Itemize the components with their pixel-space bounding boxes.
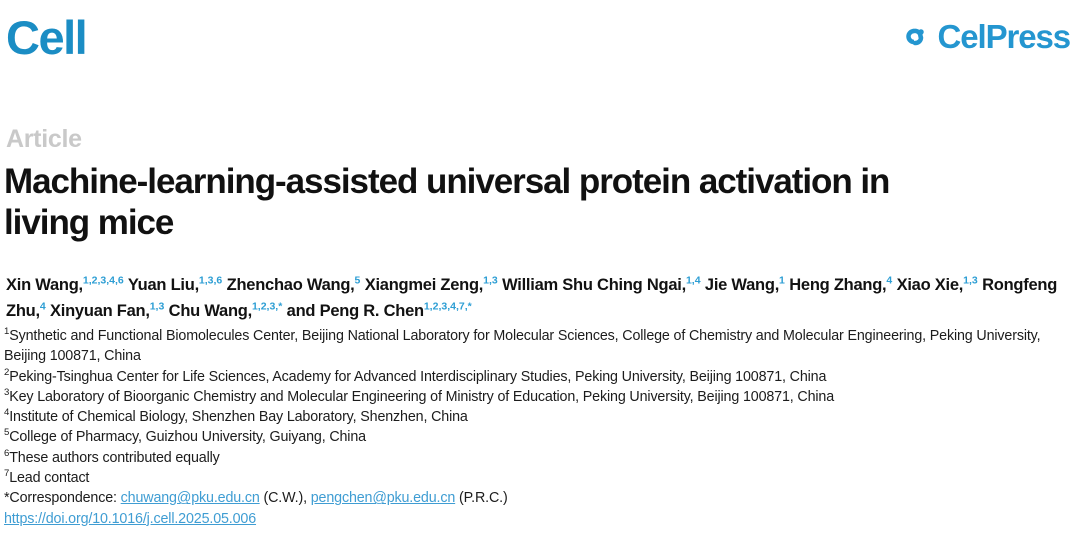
author-affiliation-marker: 1,2,3,4,7,* <box>424 301 472 313</box>
affiliation-text: Synthetic and Functional Biomolecules Ce… <box>4 328 1040 364</box>
doi-link[interactable]: https://doi.org/10.1016/j.cell.2025.05.0… <box>4 509 1074 529</box>
author-name: Xinyuan Fan, <box>50 302 150 320</box>
author-affiliation-marker: 4 <box>40 301 46 313</box>
masthead: Cell CelPress <box>0 0 1080 76</box>
author-affiliation-marker: 1,2,3,4,6 <box>83 275 124 287</box>
affiliation-line: 4Institute of Chemical Biology, Shenzhen… <box>4 407 1074 427</box>
interlocking-loops-icon <box>899 21 931 53</box>
author-name: Xiao Xie, <box>897 276 964 294</box>
author-name: Heng Zhang, <box>789 276 886 294</box>
author-affiliation-marker: 1,3 <box>963 275 978 287</box>
author-name: Xiangmei Zeng, <box>365 276 483 294</box>
author-affiliation-marker: 4 <box>886 275 892 287</box>
correspondence-initials-cw: (C.W.), <box>260 490 311 506</box>
author-affiliation-marker: 1,3 <box>150 301 165 313</box>
affiliation-text: Lead contact <box>9 470 89 486</box>
author-affiliation-marker: 1,2,3,* <box>252 301 282 313</box>
cellpress-publisher-logo[interactable]: CelPress <box>899 8 1074 53</box>
affiliation-line: 3Key Laboratory of Bioorganic Chemistry … <box>4 387 1074 407</box>
article-type-label: Article <box>6 125 82 154</box>
author-affiliation-marker: 1,4 <box>686 275 701 287</box>
author-affiliation-marker: 1,3,6 <box>199 275 222 287</box>
affiliation-text: These authors contributed equally <box>9 450 219 466</box>
affiliation-text: College of Pharmacy, Guizhou University,… <box>9 429 366 445</box>
cell-journal-logo[interactable]: Cell <box>6 8 86 61</box>
author-affiliation-marker: 5 <box>355 275 361 287</box>
affiliation-text: Institute of Chemical Biology, Shenzhen … <box>9 409 468 425</box>
affiliation-text: Key Laboratory of Bioorganic Chemistry a… <box>9 389 834 405</box>
affiliation-line: 6These authors contributed equally <box>4 448 1074 468</box>
correspondence-line: *Correspondence: chuwang@pku.edu.cn (C.W… <box>4 488 1074 508</box>
cellpress-wordmark: CelPress <box>938 20 1070 53</box>
author-name: Xin Wang, <box>6 276 83 294</box>
author-list: Xin Wang,1,2,3,4,6 Yuan Liu,1,3,6 Zhench… <box>6 272 1076 324</box>
author-affiliation-marker: 1,3 <box>483 275 498 287</box>
author-name: Yuan Liu, <box>128 276 199 294</box>
correspondence-prefix: *Correspondence: <box>4 490 121 506</box>
author-name: Chu Wang, <box>169 302 252 320</box>
page-title: Machine-learning-assisted universal prot… <box>4 162 904 244</box>
affiliation-line: 1Synthetic and Functional Biomolecules C… <box>4 326 1074 367</box>
correspondence-initials-prc: (P.R.C.) <box>455 490 507 506</box>
affiliation-line: 2Peking-Tsinghua Center for Life Science… <box>4 367 1074 387</box>
correspondence-email-cw[interactable]: chuwang@pku.edu.cn <box>121 490 260 506</box>
affiliations-block: 1Synthetic and Functional Biomolecules C… <box>4 326 1074 529</box>
affiliation-line: 5College of Pharmacy, Guizhou University… <box>4 427 1074 447</box>
author-affiliation-marker: 1 <box>779 275 785 287</box>
author-name: William Shu Ching Ngai, <box>502 276 686 294</box>
article-header-page: Cell CelPress Article Machine-learning-a… <box>0 0 1080 540</box>
affiliation-text: Peking-Tsinghua Center for Life Sciences… <box>9 369 826 385</box>
affiliation-line: 7Lead contact <box>4 468 1074 488</box>
author-name: and Peng R. Chen <box>287 302 424 320</box>
author-name: Jie Wang, <box>705 276 779 294</box>
correspondence-email-prc[interactable]: pengchen@pku.edu.cn <box>311 490 455 506</box>
author-name: Zhenchao Wang, <box>227 276 355 294</box>
